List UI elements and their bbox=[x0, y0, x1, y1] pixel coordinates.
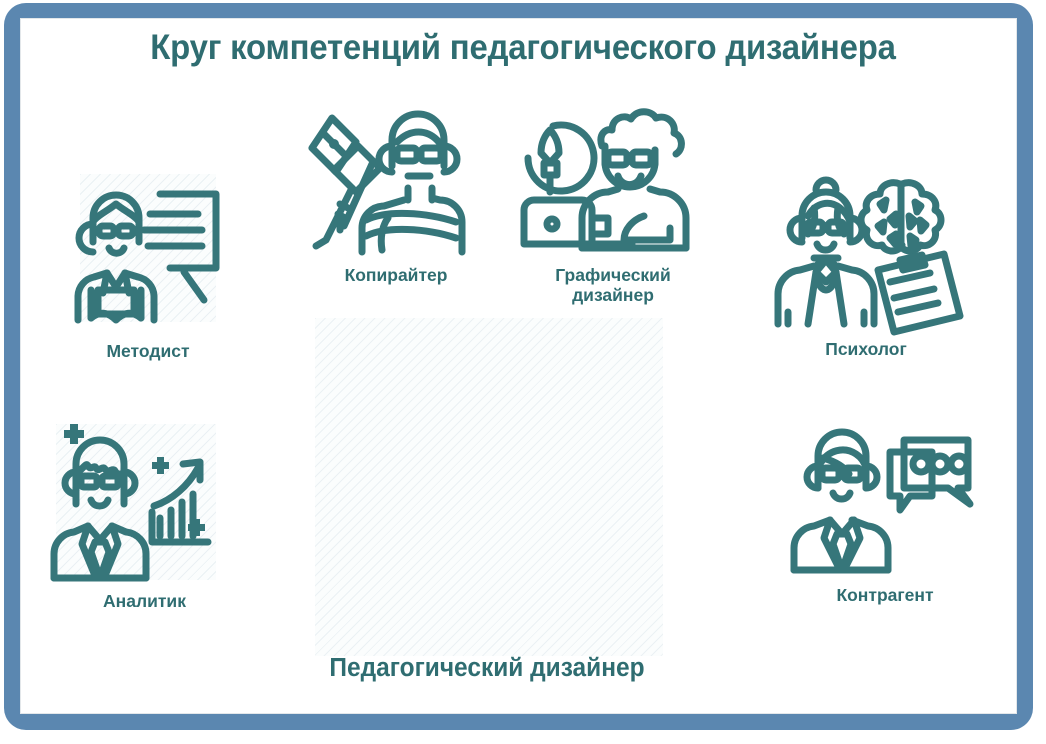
center-role-label: Педагогический дизайнер bbox=[296, 654, 678, 683]
psychologist-artwork bbox=[760, 160, 972, 336]
tile-label: Методист bbox=[52, 342, 244, 362]
competency-tile-graphic-designer[interactable]: Графический дизайнер bbox=[508, 100, 718, 305]
analyst-artwork bbox=[42, 416, 247, 588]
counterparty-artwork bbox=[780, 410, 990, 582]
infographic-poster: Круг компетенций педагогического дизайне… bbox=[0, 0, 1046, 744]
tile-label: Копирайтер bbox=[296, 266, 496, 286]
competency-tile-counterparty[interactable]: Контрагент bbox=[780, 410, 990, 606]
man-with-fountain-pen-icon bbox=[296, 100, 496, 262]
competency-tile-analyst[interactable]: Аналитик bbox=[42, 416, 247, 612]
tile-label: Контрагент bbox=[780, 586, 990, 606]
woman-with-growth-chart-icon bbox=[42, 416, 247, 588]
woman-with-brain-and-clipboard-icon bbox=[760, 160, 972, 336]
man-with-speech-bubbles-icon bbox=[780, 410, 990, 582]
pedagogical-designer-artwork bbox=[307, 312, 667, 652]
tile-label: Графический дизайнер bbox=[508, 266, 718, 305]
tile-label: Аналитик bbox=[42, 592, 247, 612]
hatch-backdrop bbox=[315, 318, 663, 656]
metodist-artwork bbox=[52, 168, 244, 338]
competency-tile-metodist[interactable]: Методист bbox=[52, 168, 244, 362]
graphic-designer-artwork bbox=[508, 100, 718, 262]
tile-label: Психолог bbox=[760, 340, 972, 360]
woman-with-presentation-board-icon bbox=[52, 168, 244, 338]
copywriter-artwork bbox=[296, 100, 496, 262]
competency-tile-copywriter[interactable]: Копирайтер bbox=[296, 100, 496, 286]
page-title: Круг компетенций педагогического дизайне… bbox=[31, 28, 1014, 68]
center-role-tile[interactable]: Педагогический дизайнер bbox=[288, 312, 686, 683]
designer-with-laptop-and-pen-tool-icon bbox=[508, 100, 718, 262]
competency-tile-psychologist[interactable]: Психолог bbox=[760, 160, 972, 360]
